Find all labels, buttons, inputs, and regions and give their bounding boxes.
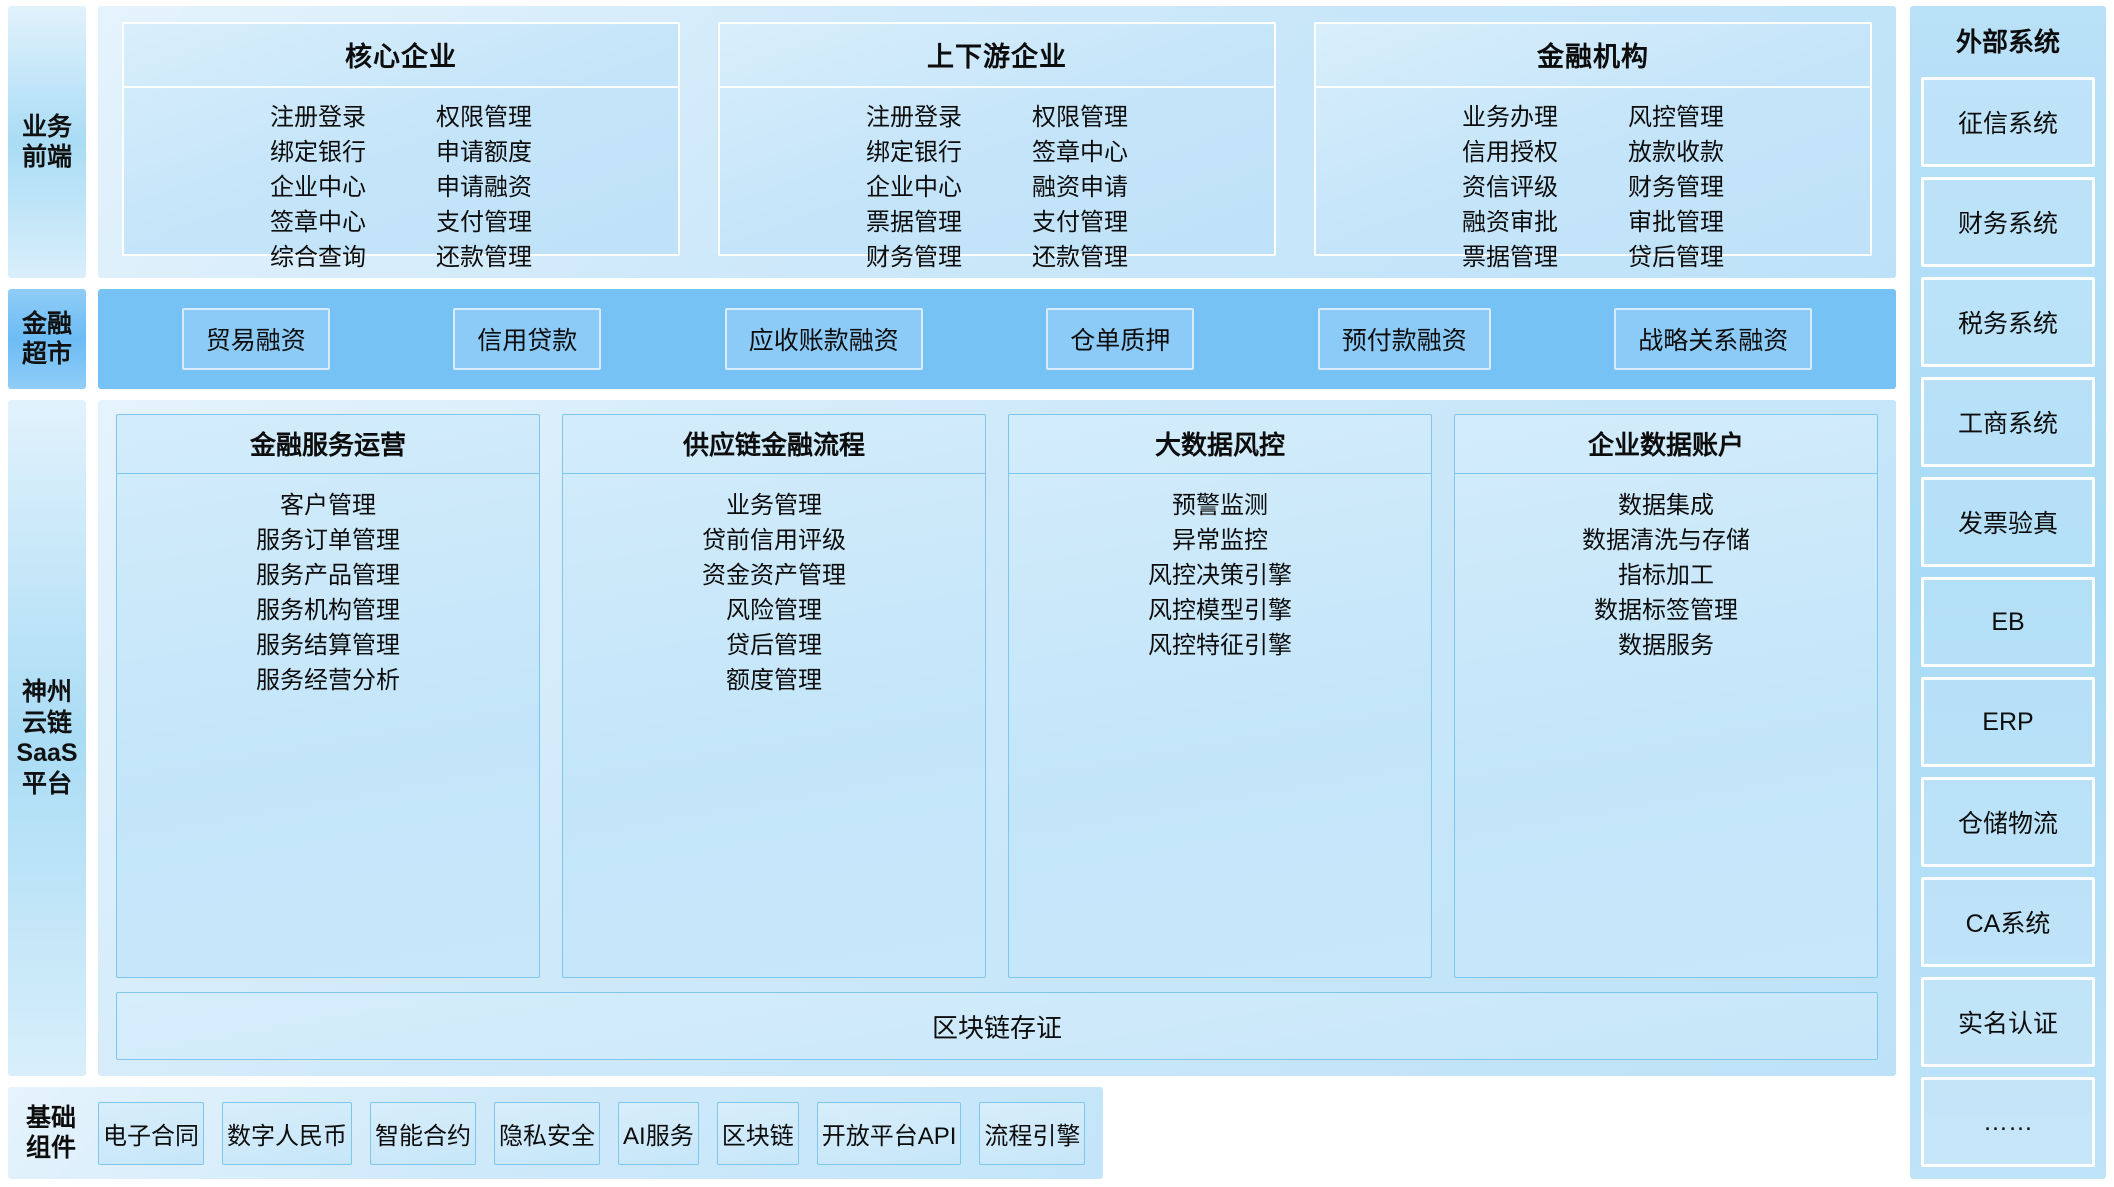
saas-item: 服务产品管理 [256, 560, 400, 592]
saas-item: 风控模型引擎 [1148, 595, 1292, 627]
saas-item: 贷前信用评级 [702, 525, 846, 557]
front-item: 权限管理 [1020, 101, 1140, 134]
front-item: 绑定银行 [854, 136, 974, 169]
layer-saas-platform: 神州 云链 SaaS 平台 金融服务运营 客户管理 服务订单管理 服务产品管理 … [8, 400, 1896, 1076]
base-chip-blockchain[interactable]: 区块链 [717, 1102, 799, 1165]
saas-card-big-data-risk-control[interactable]: 大数据风控 预警监测 异常监控 风控决策引擎 风控模型引擎 风控特征引擎 [1008, 414, 1432, 978]
saas-item: 风控决策引擎 [1148, 560, 1292, 592]
market-chip-strategic-relationship-finance[interactable]: 战略关系融资 [1614, 308, 1812, 370]
saas-card-enterprise-data-account[interactable]: 企业数据账户 数据集成 数据清洗与存储 指标加工 数据标签管理 数据服务 [1454, 414, 1878, 978]
front-item: 签章中心 [258, 206, 378, 239]
front-item: 综合查询 [258, 241, 378, 274]
front-item: 审批管理 [1616, 206, 1736, 239]
saas-item: 数据标签管理 [1594, 595, 1738, 627]
saas-card-items: 业务管理 贷前信用评级 资金资产管理 风险管理 贷后管理 额度管理 [563, 474, 985, 977]
saas-item: 指标加工 [1618, 560, 1714, 592]
front-card-columns: 业务办理 信用授权 资信评级 融资审批 票据管理 风控管理 放款收款 财务管理 … [1316, 88, 1870, 285]
saas-item: 服务订单管理 [256, 525, 400, 557]
front-item: 融资审批 [1450, 206, 1570, 239]
market-chip-credit-loan[interactable]: 信用贷款 [453, 308, 601, 370]
base-chip-ai-service[interactable]: AI服务 [618, 1102, 699, 1165]
front-item: 注册登录 [258, 101, 378, 134]
saas-item: 风控特征引擎 [1148, 630, 1292, 662]
saas-item: 数据清洗与存储 [1582, 525, 1750, 557]
front-item: 权限管理 [424, 101, 544, 134]
external-chip-invoice-verification[interactable]: 发票验真 [1921, 477, 2095, 567]
front-card-core-enterprise[interactable]: 核心企业 注册登录 绑定银行 企业中心 签章中心 综合查询 权限管理 申请额度 [122, 22, 680, 256]
external-chip-erp[interactable]: ERP [1921, 677, 2095, 767]
front-item: 申请额度 [424, 136, 544, 169]
base-chip-privacy-security[interactable]: 隐私安全 [494, 1102, 600, 1165]
front-item: 还款管理 [424, 241, 544, 274]
business-front-end-body: 核心企业 注册登录 绑定银行 企业中心 签章中心 综合查询 权限管理 申请额度 [98, 6, 1896, 278]
saas-card-financial-service-operation[interactable]: 金融服务运营 客户管理 服务订单管理 服务产品管理 服务机构管理 服务结算管理 … [116, 414, 540, 978]
front-card-financial-institution[interactable]: 金融机构 业务办理 信用授权 资信评级 融资审批 票据管理 风控管理 放款收款 [1314, 22, 1872, 256]
front-item: 业务办理 [1450, 101, 1570, 134]
external-chip-more[interactable]: …… [1921, 1077, 2095, 1167]
front-item: 财务管理 [1616, 171, 1736, 204]
external-chip-eb[interactable]: EB [1921, 577, 2095, 667]
front-item: 签章中心 [1020, 136, 1140, 169]
market-chip-warehouse-receipt-pledge[interactable]: 仓单质押 [1046, 308, 1194, 370]
saas-item: 服务经营分析 [256, 665, 400, 697]
base-chip-electronic-contract[interactable]: 电子合同 [98, 1102, 204, 1165]
saas-card-title: 企业数据账户 [1455, 415, 1877, 474]
saas-item: 数据服务 [1618, 630, 1714, 662]
saas-item: 服务结算管理 [256, 630, 400, 662]
layer-label-line: 超市 [22, 340, 72, 368]
layer-business-front-end: 业务 前端 核心企业 注册登录 绑定银行 企业中心 签章中心 综合查询 [8, 6, 1896, 278]
front-card-title: 金融机构 [1316, 24, 1870, 88]
saas-item: 异常监控 [1172, 525, 1268, 557]
saas-card-supply-chain-finance-process[interactable]: 供应链金融流程 业务管理 贷前信用评级 资金资产管理 风险管理 贷后管理 额度管… [562, 414, 986, 978]
market-chip-trade-finance[interactable]: 贸易融资 [182, 308, 330, 370]
layer-label-business-front-end: 业务 前端 [8, 6, 86, 278]
front-card-column-left: 注册登录 绑定银行 企业中心 票据管理 财务管理 [854, 101, 974, 275]
external-systems-panel: 外部系统 征信系统 财务系统 税务系统 工商系统 发票验真 EB ERP 仓储物… [1910, 6, 2106, 1179]
front-item: 申请融资 [424, 171, 544, 204]
front-item: 放款收款 [1616, 136, 1736, 169]
external-chip-warehouse-logistics[interactable]: 仓储物流 [1921, 777, 2095, 867]
external-chip-ca-system[interactable]: CA系统 [1921, 877, 2095, 967]
saas-platform-body: 金融服务运营 客户管理 服务订单管理 服务产品管理 服务机构管理 服务结算管理 … [98, 400, 1896, 1076]
front-item: 财务管理 [854, 241, 974, 274]
market-chip-receivables-finance[interactable]: 应收账款融资 [725, 308, 923, 370]
front-item: 资信评级 [1450, 171, 1570, 204]
front-card-column-left: 业务办理 信用授权 资信评级 融资审批 票据管理 [1450, 101, 1570, 275]
base-components-body: 基础 组件 电子合同 数字人民币 智能合约 隐私安全 AI服务 区块链 开放平台… [8, 1087, 1103, 1179]
layer-label-line: 云链 [22, 709, 72, 737]
layer-label-line: 前端 [22, 143, 72, 171]
saas-item: 预警监测 [1172, 490, 1268, 522]
layer-label-line: 组件 [26, 1134, 76, 1162]
saas-card-title: 大数据风控 [1009, 415, 1431, 474]
layer-label-line: 平台 [22, 770, 72, 798]
front-item: 票据管理 [1450, 241, 1570, 274]
layer-label-base-components: 基础 组件 [26, 1103, 80, 1163]
base-chip-smart-contract[interactable]: 智能合约 [370, 1102, 476, 1165]
saas-card-group: 金融服务运营 客户管理 服务订单管理 服务产品管理 服务机构管理 服务结算管理 … [116, 414, 1878, 978]
saas-card-title: 金融服务运营 [117, 415, 539, 474]
layer-label-line: 基础 [26, 1104, 76, 1132]
front-card-columns: 注册登录 绑定银行 企业中心 票据管理 财务管理 权限管理 签章中心 融资申请 … [720, 88, 1274, 285]
saas-item: 贷后管理 [726, 630, 822, 662]
layer-label-financial-supermarket: 金融 超市 [8, 289, 86, 389]
layer-label-line: 神州 [22, 678, 72, 706]
saas-card-items: 数据集成 数据清洗与存储 指标加工 数据标签管理 数据服务 [1455, 474, 1877, 977]
architecture-diagram: 业务 前端 核心企业 注册登录 绑定银行 企业中心 签章中心 综合查询 [0, 0, 2114, 1187]
main-layers-column: 业务 前端 核心企业 注册登录 绑定银行 企业中心 签章中心 综合查询 [8, 6, 1896, 1179]
saas-item: 客户管理 [280, 490, 376, 522]
saas-item: 服务机构管理 [256, 595, 400, 627]
saas-item: 资金资产管理 [702, 560, 846, 592]
layer-label-line: SaaS [16, 739, 77, 767]
front-item: 支付管理 [1020, 206, 1140, 239]
saas-card-items: 预警监测 异常监控 风控决策引擎 风控模型引擎 风控特征引擎 [1009, 474, 1431, 977]
external-chip-tax-system[interactable]: 税务系统 [1921, 277, 2095, 367]
front-item: 注册登录 [854, 101, 974, 134]
front-item: 绑定银行 [258, 136, 378, 169]
front-item: 企业中心 [258, 171, 378, 204]
saas-card-title: 供应链金融流程 [563, 415, 985, 474]
saas-item: 风险管理 [726, 595, 822, 627]
external-chip-business-registration-system[interactable]: 工商系统 [1921, 377, 2095, 467]
front-card-column-right: 权限管理 签章中心 融资申请 支付管理 还款管理 [1020, 101, 1140, 275]
layer-label-saas-platform: 神州 云链 SaaS 平台 [8, 400, 86, 1076]
layer-financial-supermarket: 金融 超市 贸易融资 信用贷款 应收账款融资 仓单质押 预付款融资 战略关系融资 [8, 289, 1896, 389]
layer-base-components: 基础 组件 电子合同 数字人民币 智能合约 隐私安全 AI服务 区块链 开放平台… [8, 1087, 1896, 1179]
front-item: 贷后管理 [1616, 241, 1736, 274]
base-chip-open-platform-api[interactable]: 开放平台API [817, 1102, 962, 1165]
saas-card-items: 客户管理 服务订单管理 服务产品管理 服务机构管理 服务结算管理 服务经营分析 [117, 474, 539, 977]
external-chip-finance-system[interactable]: 财务系统 [1921, 177, 2095, 267]
external-chip-credit-reporting-system[interactable]: 征信系统 [1921, 77, 2095, 167]
external-chip-real-name-authentication[interactable]: 实名认证 [1921, 977, 2095, 1067]
blockchain-evidence-bar[interactable]: 区块链存证 [116, 992, 1878, 1060]
front-item: 企业中心 [854, 171, 974, 204]
market-chip-prepayment-finance[interactable]: 预付款融资 [1318, 308, 1491, 370]
front-card-title: 上下游企业 [720, 24, 1274, 88]
front-item: 支付管理 [424, 206, 544, 239]
external-systems-title: 外部系统 [1956, 16, 2060, 67]
front-item: 票据管理 [854, 206, 974, 239]
front-item: 还款管理 [1020, 241, 1140, 274]
layer-label-line: 业务 [22, 113, 72, 141]
front-card-title: 核心企业 [124, 24, 678, 88]
front-item: 信用授权 [1450, 136, 1570, 169]
front-card-columns: 注册登录 绑定银行 企业中心 签章中心 综合查询 权限管理 申请额度 申请融资 … [124, 88, 678, 285]
financial-supermarket-body: 贸易融资 信用贷款 应收账款融资 仓单质押 预付款融资 战略关系融资 [98, 289, 1896, 389]
front-card-upstream-downstream-enterprise[interactable]: 上下游企业 注册登录 绑定银行 企业中心 票据管理 财务管理 权限管理 签章中心 [718, 22, 1276, 256]
front-item: 融资申请 [1020, 171, 1140, 204]
saas-item: 业务管理 [726, 490, 822, 522]
base-chip-digital-rmb[interactable]: 数字人民币 [222, 1102, 352, 1165]
front-card-column-left: 注册登录 绑定银行 企业中心 签章中心 综合查询 [258, 101, 378, 275]
saas-item: 额度管理 [726, 665, 822, 697]
front-item: 风控管理 [1616, 101, 1736, 134]
layer-label-line: 金融 [22, 310, 72, 338]
saas-item: 数据集成 [1618, 490, 1714, 522]
base-chip-process-engine[interactable]: 流程引擎 [979, 1102, 1085, 1165]
front-card-column-right: 风控管理 放款收款 财务管理 审批管理 贷后管理 [1616, 101, 1736, 275]
front-card-column-right: 权限管理 申请额度 申请融资 支付管理 还款管理 [424, 101, 544, 275]
